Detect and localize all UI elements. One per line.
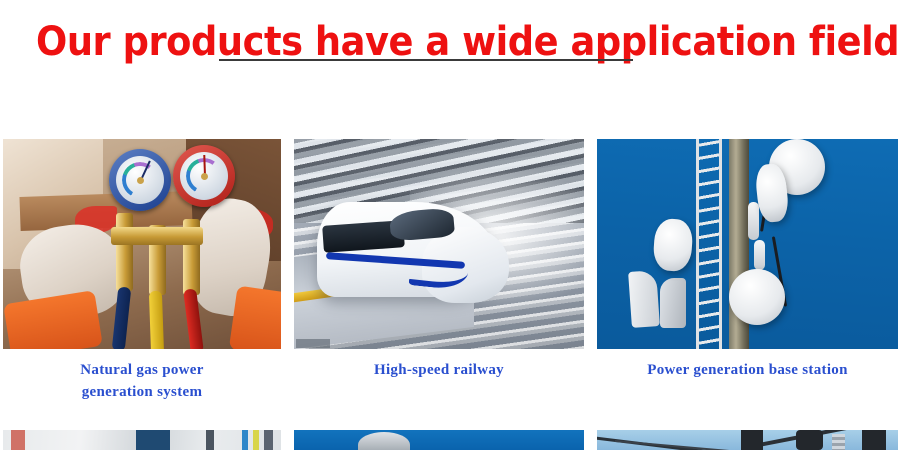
- gallery-card-base-station[interactable]: Power generation base station: [597, 139, 898, 403]
- caption-natural-gas: Natural gas power generation system: [35, 359, 250, 403]
- gallery-card-bottom-3[interactable]: [597, 430, 898, 450]
- caption-line-1: High-speed railway: [294, 359, 584, 381]
- gallery-card-natural-gas[interactable]: Natural gas power generation system: [3, 139, 281, 403]
- photo-detail-block: [11, 430, 25, 450]
- brass-manifold-body: [111, 227, 203, 245]
- photo-watermark: [296, 339, 330, 348]
- caption-base-station: Power generation base station: [597, 359, 898, 381]
- orange-sleeve-right: [229, 286, 281, 349]
- whip-antenna-lower: [754, 240, 765, 270]
- photo-bottom-blue-sky-equipment[interactable]: [294, 430, 584, 450]
- gallery-bottom-row: [0, 430, 900, 450]
- caption-line-2: generation system: [35, 381, 250, 403]
- pylon-leg-3: [862, 430, 886, 450]
- caption-high-speed-railway: High-speed railway: [294, 359, 584, 381]
- photo-detail-block: [136, 430, 169, 450]
- manifold-port-left: [116, 213, 133, 291]
- insulator-string: [832, 434, 845, 450]
- yellow-charging-hose: [149, 291, 164, 349]
- photo-detail-block: [242, 430, 248, 450]
- sector-panel-antenna-left: [628, 270, 660, 328]
- gallery-top-row: Natural gas power generation system: [0, 139, 900, 403]
- photo-bottom-industrial-interior[interactable]: [3, 430, 281, 450]
- photo-detail-block: [206, 430, 214, 450]
- gauge-hub: [137, 177, 144, 184]
- gallery-card-bottom-2[interactable]: [294, 430, 584, 450]
- photo-power-generation-base-station[interactable]: [597, 139, 898, 349]
- microwave-dish-left: [652, 218, 694, 273]
- photo-bottom-power-lines[interactable]: [597, 430, 898, 450]
- gauge-hub: [201, 173, 208, 180]
- blue-pressure-gauge: [109, 149, 171, 211]
- microwave-dish-lower: [729, 269, 785, 325]
- sector-panel-antenna-second: [660, 278, 686, 328]
- red-pressure-gauge: [173, 145, 235, 207]
- caption-line-1: Natural gas power: [35, 359, 250, 381]
- pylon-leg-2: [796, 430, 823, 450]
- photo-detail-block: [253, 430, 259, 450]
- metal-cap-detail: [358, 432, 410, 450]
- photo-natural-gas-power-generation[interactable]: [3, 139, 281, 349]
- pylon-leg-1: [741, 430, 762, 450]
- gallery-card-high-speed-railway[interactable]: High-speed railway: [294, 139, 584, 403]
- cable-ladder: [696, 139, 722, 349]
- application-field-banner: Our products have a wide application fie…: [0, 0, 900, 450]
- orange-sleeve-left: [3, 290, 103, 349]
- photo-detail-block: [264, 430, 272, 450]
- whip-antenna-upper: [748, 202, 759, 240]
- gallery-card-bottom-1[interactable]: [3, 430, 281, 450]
- caption-line-1: Power generation base station: [597, 359, 898, 381]
- photo-high-speed-railway[interactable]: [294, 139, 584, 349]
- title-underline-rule: [219, 59, 633, 61]
